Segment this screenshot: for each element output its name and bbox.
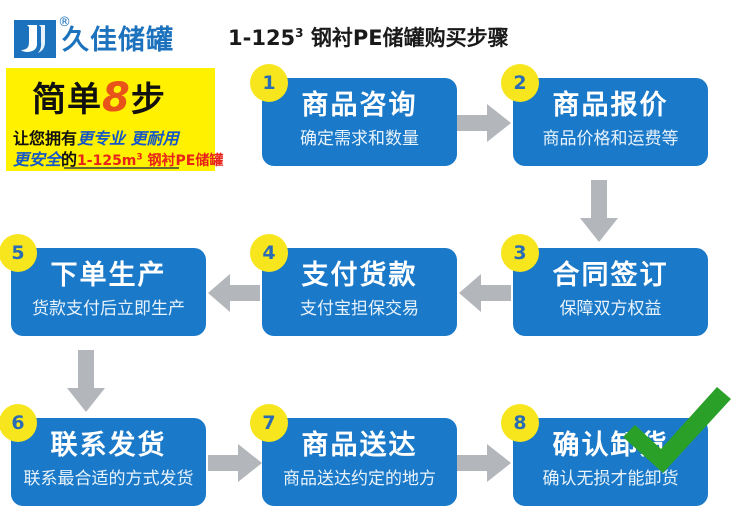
arrow-down-icon-step5-to-step6 bbox=[67, 350, 105, 412]
step-box-2[interactable]: 2 商品报价 商品价格和运费等 bbox=[513, 78, 708, 166]
step-subtitle-7: 商品送达约定的地方 bbox=[262, 470, 457, 489]
promo-headline-post: 步 bbox=[131, 80, 166, 120]
step-subtitle-3: 保障双方权益 bbox=[513, 300, 708, 319]
step-subtitle-6: 联系最合适的方式发货 bbox=[11, 470, 206, 489]
step-subtitle-5: 货款支付后立即生产 bbox=[11, 300, 206, 319]
step-title-2: 商品报价 bbox=[513, 92, 708, 119]
step-subtitle-4: 支付宝担保交易 bbox=[262, 300, 457, 319]
arrow-right-icon-step6-to-step7 bbox=[208, 444, 262, 482]
promo-banner: 简单8步 让您拥有更专业 更耐用 更安全的1-125m3 钢衬PE储罐 bbox=[6, 68, 215, 171]
page-header: ® 久佳储罐 1-1253 钢衬PE储罐购买步骤 bbox=[0, 0, 735, 62]
step-box-4[interactable]: 4 支付货款 支付宝担保交易 bbox=[262, 248, 457, 336]
step-title-5: 下单生产 bbox=[11, 262, 206, 289]
step-title-7: 商品送达 bbox=[262, 432, 457, 459]
promo-headline-number: 8 bbox=[102, 75, 131, 121]
step-title-4: 支付货款 bbox=[262, 262, 457, 289]
step-subtitle-2: 商品价格和运费等 bbox=[513, 130, 708, 149]
green-check-icon bbox=[617, 385, 735, 475]
step-box-3[interactable]: 3 合同签订 保障双方权益 bbox=[513, 248, 708, 336]
page-title-prefix: 1-125 bbox=[228, 26, 295, 50]
promo-subline-2-blue: 更安全 bbox=[13, 150, 61, 169]
promo-headline: 简单8步 bbox=[32, 72, 166, 121]
arrow-right-icon-step7-to-step8 bbox=[457, 444, 511, 482]
arrow-right-icon-step1-to-step2 bbox=[457, 104, 511, 142]
step-box-5[interactable]: 5 下单生产 货款支付后立即生产 bbox=[11, 248, 206, 336]
brand-name: 久佳储罐 bbox=[62, 18, 174, 57]
step-subtitle-1: 确定需求和数量 bbox=[262, 130, 457, 149]
arrow-down-icon-step2-to-step3 bbox=[580, 180, 618, 242]
page-title: 1-1253 钢衬PE储罐购买步骤 bbox=[228, 22, 509, 52]
arrow-left-icon-step4-to-step5 bbox=[208, 274, 260, 312]
jiujia-tank-logo-icon bbox=[14, 20, 56, 58]
step-box-1[interactable]: 1 商品咨询 确定需求和数量 bbox=[262, 78, 457, 166]
step-title-1: 商品咨询 bbox=[262, 92, 457, 119]
promo-underline bbox=[64, 167, 179, 169]
page-title-superscript: 3 bbox=[295, 26, 303, 40]
promo-headline-pre: 简单 bbox=[32, 80, 102, 120]
page-title-rest: 钢衬PE储罐购买步骤 bbox=[304, 26, 509, 50]
step-title-3: 合同签订 bbox=[513, 262, 708, 289]
step-box-7[interactable]: 7 商品送达 商品送达约定的地方 bbox=[262, 418, 457, 506]
step-title-6: 联系发货 bbox=[11, 432, 206, 459]
arrow-left-icon-step3-to-step4 bbox=[459, 274, 511, 312]
step-box-6[interactable]: 6 联系发货 联系最合适的方式发货 bbox=[11, 418, 206, 506]
